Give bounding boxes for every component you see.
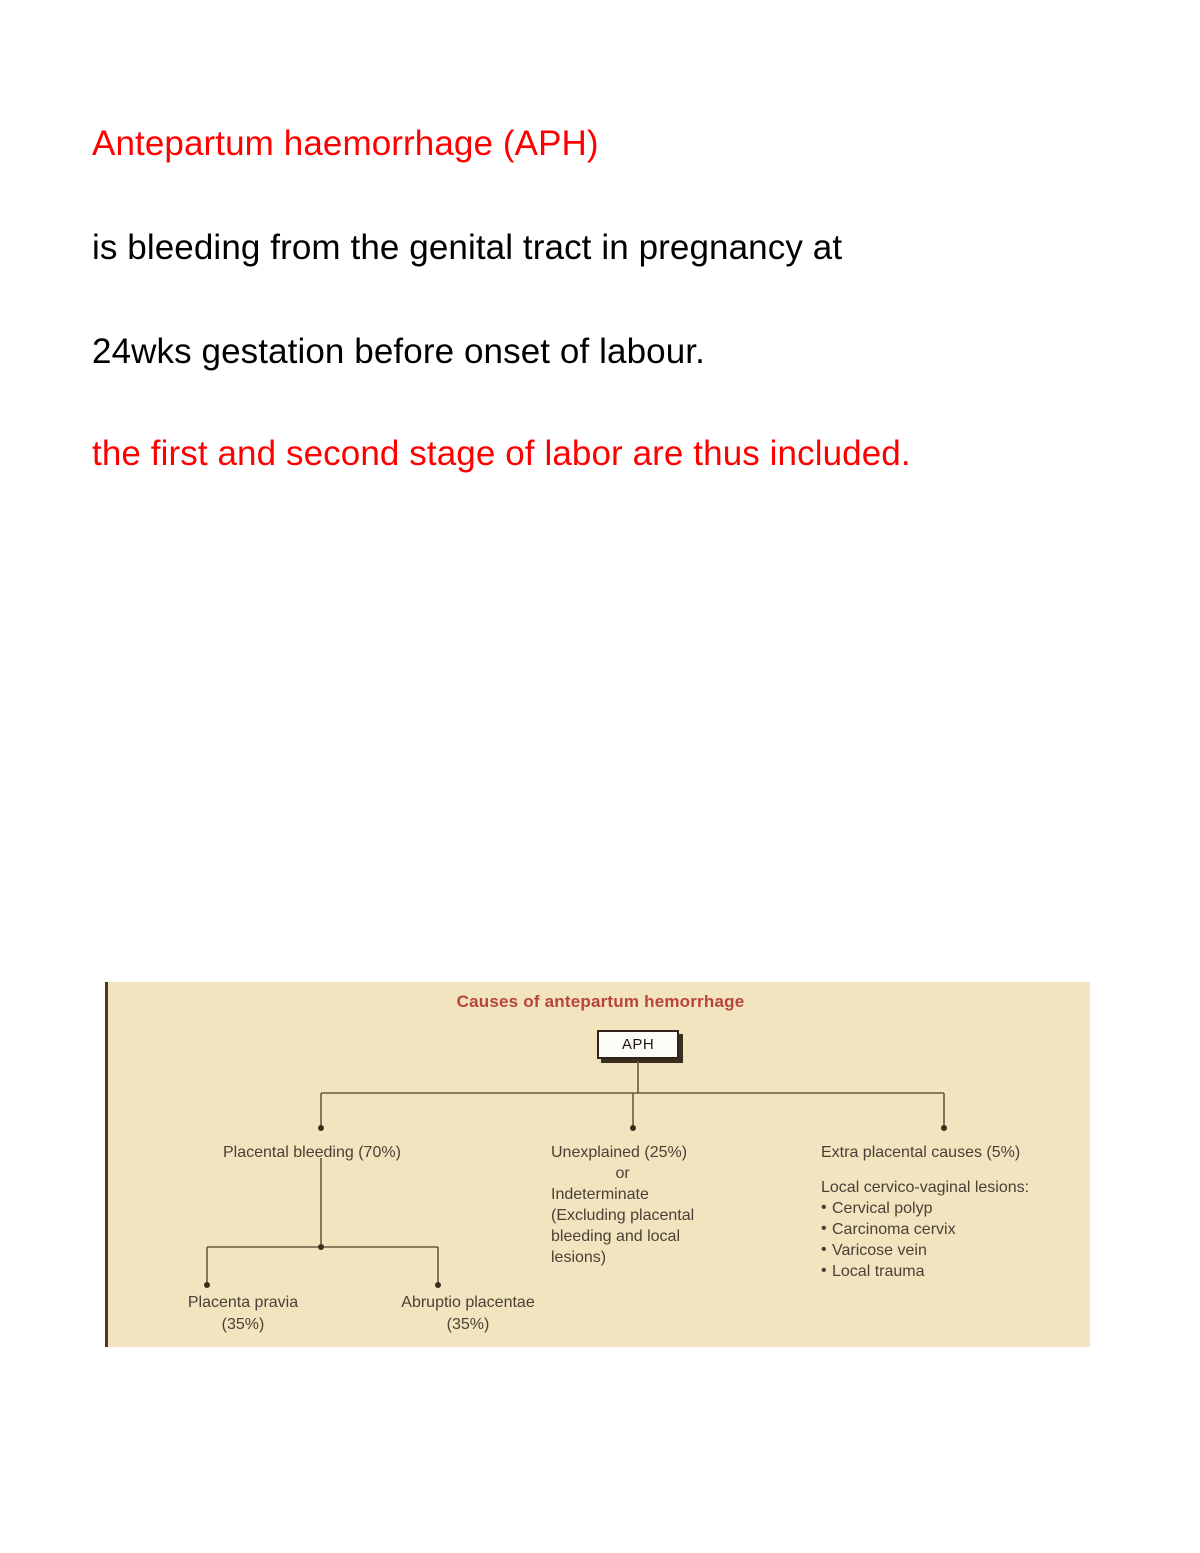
branch-middle-line-2: (Excluding placental bbox=[551, 1205, 694, 1226]
diagram-root-node-label: APH bbox=[622, 1036, 654, 1053]
leaf-abruptio-placentae-percent: (35%) bbox=[356, 1314, 580, 1336]
branch-right-heading: Extra placental causes (5%) bbox=[821, 1142, 1029, 1163]
list-item: Local trauma bbox=[821, 1261, 1029, 1282]
doc-line-note: the first and second stage of labor are … bbox=[92, 404, 1092, 504]
list-item: Carcinoma cervix bbox=[821, 1219, 1029, 1240]
list-item: Cervical polyp bbox=[821, 1198, 1029, 1219]
branch-middle-line-3: bleeding and local bbox=[551, 1226, 694, 1247]
doc-line-definition-1: is bleeding from the genital tract in pr… bbox=[92, 196, 1092, 300]
branch-left-heading: Placental bleeding (70%) bbox=[223, 1142, 401, 1163]
doc-line-definition-2: 24wks gestation before onset of labour. bbox=[92, 300, 1092, 404]
list-item: Varicose vein bbox=[821, 1240, 1029, 1261]
leaf-placenta-pravia: Placenta pravia (35%) bbox=[148, 1292, 338, 1336]
branch-middle-line-4: lesions) bbox=[551, 1247, 694, 1268]
branch-middle-heading: Unexplained (25%) bbox=[551, 1142, 694, 1163]
leaf-abruptio-placentae: Abruptio placentae (35%) bbox=[356, 1292, 580, 1336]
doc-line-title: Antepartum haemorrhage (APH) bbox=[92, 92, 1092, 196]
leaf-placenta-pravia-label: Placenta pravia bbox=[148, 1292, 338, 1314]
branch-middle-line-1: Indeterminate bbox=[551, 1184, 694, 1205]
branch-right-subheading: Local cervico-vaginal lesions: bbox=[821, 1177, 1029, 1198]
branch-left: Placental bleeding (70%) bbox=[223, 1142, 401, 1163]
causes-diagram-panel: Causes of antepartum hemorrhage APH bbox=[105, 982, 1090, 1347]
branch-right-bullet-list: Cervical polyp Carcinoma cervix Varicose… bbox=[821, 1198, 1029, 1282]
branch-middle: Unexplained (25%) or Indeterminate (Excl… bbox=[551, 1142, 694, 1268]
leaf-placenta-pravia-percent: (35%) bbox=[148, 1314, 338, 1336]
diagram-root-node-aph: APH bbox=[597, 1030, 679, 1059]
branch-middle-connector: or bbox=[551, 1163, 694, 1184]
document-text-block: Antepartum haemorrhage (APH) is bleeding… bbox=[92, 92, 1092, 504]
leaf-abruptio-placentae-label: Abruptio placentae bbox=[356, 1292, 580, 1314]
branch-right: Extra placental causes (5%) Local cervic… bbox=[821, 1142, 1029, 1282]
diagram-title: Causes of antepartum hemorrhage bbox=[108, 992, 1093, 1012]
